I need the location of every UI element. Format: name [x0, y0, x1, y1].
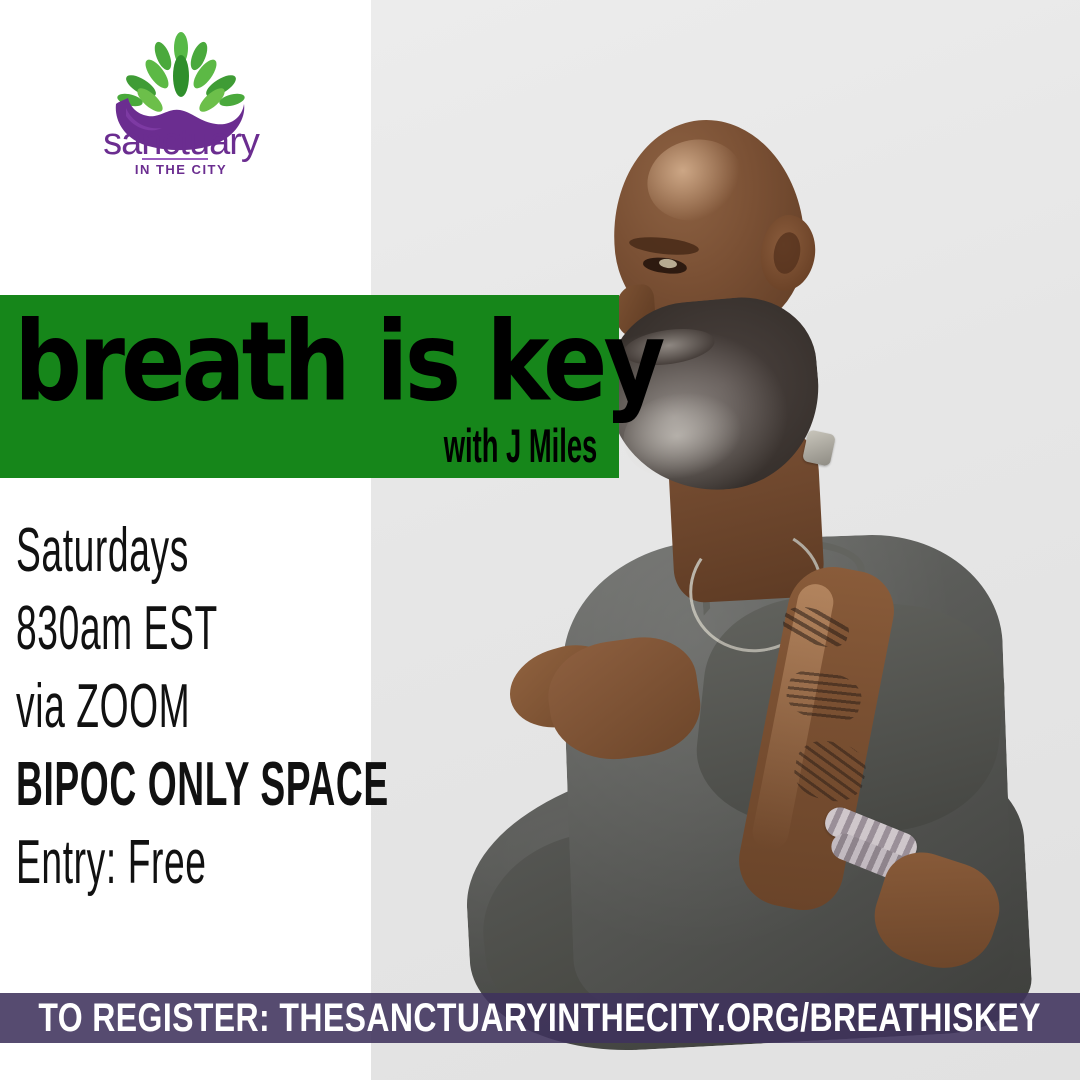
registration-url[interactable]: TO REGISTER: THESANCTUARYINTHECITY.ORG/B…: [39, 998, 1042, 1038]
leaves-icon: [116, 32, 246, 116]
headline-banner: breath is key with J Miles: [0, 295, 619, 478]
headline-text: breath is key: [14, 307, 602, 416]
detail-time: 830am EST: [16, 590, 352, 668]
sanctuary-logo: sanctuary IN THE CITY: [96, 26, 266, 186]
necklace-pendant: [802, 429, 836, 466]
logo-artwork: sanctuary IN THE CITY: [96, 26, 266, 186]
detail-space-policy: BIPOC ONLY SPACE: [16, 746, 352, 824]
event-details: Saturdays 830am EST via ZOOM BIPOC ONLY …: [16, 512, 356, 902]
subject-figure: [371, 0, 1080, 1080]
registration-bar[interactable]: TO REGISTER: THESANCTUARYINTHECITY.ORG/B…: [0, 993, 1080, 1043]
detail-day: Saturdays: [16, 512, 352, 590]
logo-tagline: IN THE CITY: [135, 162, 227, 177]
detail-entry: Entry: Free: [16, 824, 352, 902]
detail-platform: via ZOOM: [16, 668, 352, 746]
poster: sanctuary IN THE CITY breath is key with…: [0, 0, 1080, 1080]
logo-wordmark: sanctuary: [103, 121, 260, 163]
subject-photo: [371, 0, 1080, 1080]
presenter-text: with J Miles: [443, 423, 597, 471]
